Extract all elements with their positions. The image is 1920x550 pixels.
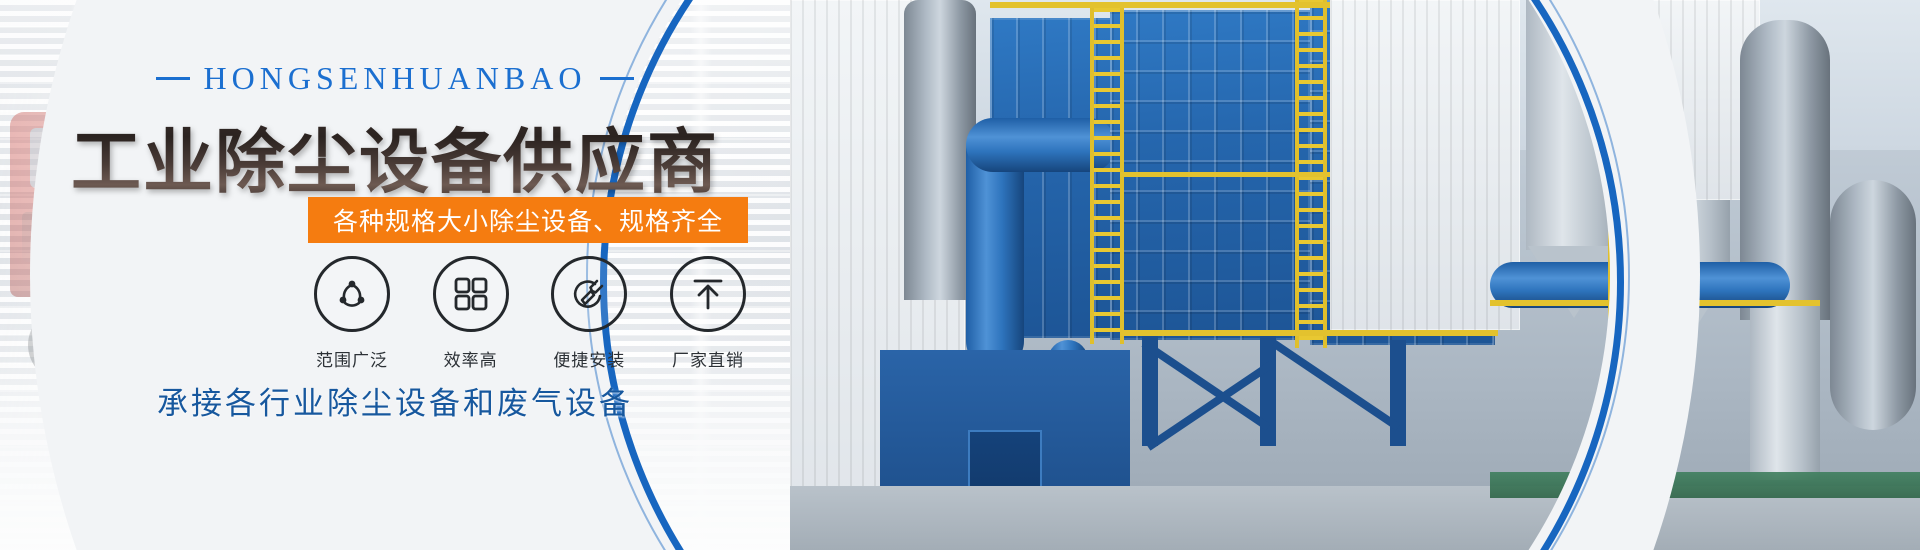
upload-arrow-icon bbox=[689, 275, 727, 313]
dust-collector-plant-photo bbox=[790, 0, 1920, 550]
feature-label: 便捷安装 bbox=[537, 346, 641, 371]
dash-right-icon bbox=[600, 77, 634, 80]
handrail bbox=[1490, 300, 1820, 306]
feature-item: 厂家直销 bbox=[656, 256, 760, 371]
support-leg bbox=[1260, 336, 1276, 446]
feature-icon-circle bbox=[433, 256, 509, 332]
green-fence bbox=[1490, 472, 1920, 498]
feature-icon-circle bbox=[314, 256, 390, 332]
promotional-banner: HONGSENHUANBAO 工业除尘设备供应商 各种规格大小除尘设备、规格齐全 bbox=[0, 0, 1920, 550]
banner-title: 工业除尘设备供应商 bbox=[0, 106, 790, 207]
brand-eyebrow: HONGSENHUANBAO bbox=[0, 60, 790, 97]
feature-item: 便捷安装 bbox=[537, 256, 641, 371]
access-ladder bbox=[1608, 120, 1638, 420]
brand-eyebrow-text: HONGSENHUANBAO bbox=[204, 60, 587, 96]
banner-ribbon-text: 各种规格大小除尘设备、规格齐全 bbox=[333, 202, 723, 238]
support-brace bbox=[1272, 340, 1401, 431]
banner-tagline: 承接各行业除尘设备和废气设备 bbox=[0, 378, 790, 423]
feature-list: 范围广泛 效率高 bbox=[300, 256, 760, 371]
access-ladder bbox=[1090, 8, 1124, 344]
feature-label: 效率高 bbox=[419, 346, 523, 371]
handrail bbox=[1120, 330, 1498, 336]
support-brace bbox=[1142, 340, 1271, 431]
grid-squares-icon bbox=[452, 275, 490, 313]
feature-item: 范围广泛 bbox=[300, 256, 404, 371]
cyclone-stack bbox=[1830, 180, 1916, 430]
banner-text-content: HONGSENHUANBAO 工业除尘设备供应商 各种规格大小除尘设备、规格齐全 bbox=[0, 0, 790, 550]
banner-ribbon: 各种规格大小除尘设备、规格齐全 bbox=[308, 197, 748, 243]
steel-silo bbox=[1750, 300, 1820, 480]
feature-icon-circle bbox=[670, 256, 746, 332]
support-brace bbox=[1146, 360, 1275, 451]
wrench-icon bbox=[569, 274, 609, 314]
share-network-icon bbox=[332, 274, 372, 314]
feature-icon-circle bbox=[551, 256, 627, 332]
feature-item: 效率高 bbox=[419, 256, 523, 371]
feature-label: 范围广泛 bbox=[300, 346, 404, 371]
dash-left-icon bbox=[156, 77, 190, 80]
feature-label: 厂家直销 bbox=[656, 346, 760, 371]
support-leg bbox=[1390, 340, 1406, 446]
